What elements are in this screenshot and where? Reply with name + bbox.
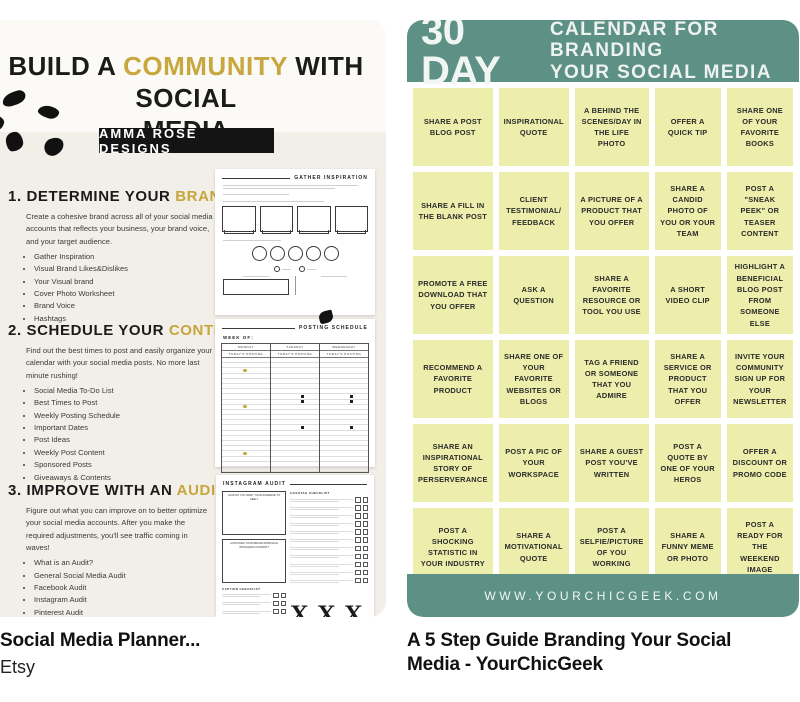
planner-bullet-item: Visual Brand Likes&Dislikes (34, 263, 213, 275)
audit-checklist-item[interactable] (290, 554, 368, 560)
audit-item-text (222, 610, 271, 614)
calendar-day-text: POST A SELFIE/PICTURE OF YOU WORKING (580, 525, 644, 570)
calendar-day-text: TAG A FRIEND OR SOMEONE THAT YOU ADMIRE (580, 357, 644, 402)
audit-checklist-item[interactable] (290, 521, 368, 527)
checkbox-no-icon[interactable] (363, 570, 369, 576)
audit-right-column: HASHTAG CHECKLIST (290, 491, 368, 617)
calendar-day-text: SHARE A FUNNY MEME OR PHOTO (660, 530, 716, 564)
audit-answer-area[interactable] (225, 502, 283, 532)
divider (222, 178, 290, 179)
checkbox-no-icon[interactable] (363, 554, 369, 560)
calendar-day-cell[interactable]: HIGHLIGHT A BENEFICIAL BLOG POST FROM SO… (727, 256, 793, 334)
photo-frame-icon (297, 206, 331, 232)
checkbox-no-icon[interactable] (363, 529, 369, 535)
planner-bullet-item: Brand Voice (34, 300, 213, 312)
calendar-day-cell[interactable]: SHARE ONE OF YOUR FAVORITE WEBSITES OR B… (499, 340, 569, 418)
planner-section-3-body: Figure out what you can improve on to be… (26, 505, 213, 554)
calendar-day-text: POST A READY FOR THE WEEKEND IMAGE (732, 519, 788, 575)
schedule-dark-marker (350, 400, 353, 403)
worksheet-posting-schedule: POSTING SCHEDULE WEEK OF: MONDAYTODAY'S … (215, 319, 375, 467)
audit-checklist-item[interactable] (290, 497, 368, 503)
planner-section-3-number: 3. (8, 482, 22, 499)
calendar-header: 30 DAY CALENDAR FOR BRANDING YOUR SOCIAL… (407, 20, 799, 82)
pin-image-planner[interactable]: BUILD A COMMUNITY WITH SOCIAL MEDIA AMMA… (0, 20, 386, 617)
audit-checklist-item[interactable] (290, 529, 368, 535)
audit-item-text (290, 563, 353, 567)
audit-checklist-item[interactable] (290, 505, 368, 511)
calendar-day-text: SHARE A FAVORITE RESOURCE OR TOOL YOU US… (580, 273, 644, 318)
audit-item-text (290, 522, 353, 526)
calendar-day-cell[interactable]: SHARE A FILL IN THE BLANK POST (413, 172, 493, 250)
calendar-day-text: SHARE ONE OF YOUR FAVORITE WEBSITES OR B… (504, 351, 564, 407)
audit-checklist-item[interactable] (222, 609, 286, 615)
schedule-day-header: WEDNESDAY (320, 344, 368, 351)
audit-left-column: HOW DO YOU WANT YOUR AUDIENCE TO FEEL? H… (222, 491, 286, 617)
audit-caption-checklist-label: CAPTION CHECKLIST (222, 587, 286, 591)
audit-checklist-item[interactable] (290, 578, 368, 584)
calendar-day-text: SHARE A POST BLOG POST (418, 116, 488, 139)
checkbox-no-icon[interactable] (363, 505, 369, 511)
calendar-day-text: POST A SHOCKING STATISTIC IN YOUR INDUST… (418, 525, 488, 570)
audit-checklist-item[interactable] (222, 601, 286, 607)
schedule-day-column: WEDNESDAYTODAY'S POSTING (320, 344, 368, 472)
planner-bullet-item: Cover Photo Worksheet (34, 288, 213, 300)
checkbox-yes-icon[interactable] (355, 562, 361, 568)
calendar-day-cell[interactable]: A SHORT VIDEO CLIP (655, 256, 721, 334)
checkbox-no-icon[interactable] (363, 537, 369, 543)
calendar-day-cell[interactable]: SHARE AN INSPIRATIONAL STORY OF PERSERVE… (413, 424, 493, 502)
calendar-footer-url[interactable]: WWW.YOURCHICGEEK.COM (484, 589, 721, 603)
worksheet-header: INSTAGRAM AUDIT (223, 481, 367, 487)
audit-hashtag-checklist-label: HASHTAG CHECKLIST (290, 491, 368, 495)
x-mark-icon: X (290, 600, 309, 617)
calendar-day-cell[interactable]: SHARE A CANDID PHOTO OF YOU OR YOUR TEAM (655, 172, 721, 250)
calendar-day-cell[interactable]: POST A QUOTE BY ONE OF YOUR HEROS (655, 424, 721, 502)
checkbox-no-icon[interactable] (363, 562, 369, 568)
planner-section-2-body: Find out the best times to post and easi… (26, 345, 213, 382)
planner-section-2: 2. SCHEDULE YOUR CONTENT Find out the be… (8, 322, 213, 484)
pin-source[interactable]: Etsy (0, 656, 386, 679)
planner-bullet-item: Sponsored Posts (34, 459, 213, 471)
audit-item-text (290, 554, 353, 558)
audit-item-text (290, 530, 353, 534)
x-mark-icon: X (344, 600, 363, 617)
planner-brand-badge: AMMA ROSE DESIGNS (99, 128, 274, 153)
checkbox-no-icon[interactable] (363, 578, 369, 584)
worksheet-title: GATHER INSPIRATION (294, 175, 368, 181)
calendar-day-text: CLIENT TESTIMONIAL/ FEEDBACK (504, 194, 564, 228)
planner-section-2-heading-text: SCHEDULE YOUR (27, 322, 169, 339)
calendar-day-text: SHARE A GUEST POST YOU'VE WRITTEN (580, 446, 644, 480)
brand-color-circles (215, 246, 375, 261)
planner-bullet-item: Important Dates (34, 422, 213, 434)
divider (222, 328, 295, 329)
checkbox-no-icon[interactable] (363, 513, 369, 519)
calendar-day-text: SHARE A FILL IN THE BLANK POST (418, 200, 488, 223)
calendar-day-text: SHARE A SERVICE OR PRODUCT THAT YOU OFFE… (660, 351, 716, 407)
divider (290, 484, 367, 485)
audit-question-1: HOW DO YOU WANT YOUR AUDIENCE TO FEEL? (222, 491, 286, 535)
planner-title-part1: BUILD A (8, 51, 123, 81)
planner-section-3: 3. IMPROVE WITH AN AUDIT Figure out what… (8, 482, 213, 617)
schedule-time-row[interactable] (320, 467, 368, 472)
checkbox-no-icon[interactable] (363, 546, 369, 552)
pin-caption-planner: Social Media Planner... Etsy (0, 629, 386, 679)
checkbox-yes-icon[interactable] (355, 570, 361, 576)
planner-section-2-number: 2. (8, 322, 22, 339)
schedule-grid: MONDAYTODAY'S POSTINGTUESDAYTODAY'S POST… (221, 343, 369, 473)
checkbox-yes-icon[interactable] (355, 554, 361, 560)
audit-checklist-item[interactable] (290, 562, 368, 568)
calendar-grid: SHARE A POST BLOG POSTINSPIRATIONAL QUOT… (407, 82, 799, 592)
planner-bullet-item: Facebook Audit (34, 582, 213, 594)
calendar-day-text: SHARE AN INSPIRATIONAL STORY OF PERSERVE… (418, 441, 488, 486)
schedule-gold-marker (243, 369, 246, 372)
calendar-day-cell[interactable]: POST A "SNEAK PEEK" OR TEASER CONTENT (727, 172, 793, 250)
pin-image-calendar[interactable]: 30 DAY CALENDAR FOR BRANDING YOUR SOCIAL… (407, 20, 799, 617)
calendar-graphic: 30 DAY CALENDAR FOR BRANDING YOUR SOCIAL… (407, 20, 799, 617)
schedule-dark-marker (350, 395, 353, 398)
planner-section-3-bullets: What is an Audit?General Social Media Au… (34, 557, 213, 617)
schedule-gold-marker (243, 452, 246, 455)
audit-item-text (290, 546, 353, 550)
checkbox-no-icon[interactable] (281, 601, 287, 607)
checkbox-yes-icon[interactable] (355, 497, 361, 503)
audit-checklist-item[interactable] (290, 546, 368, 552)
schedule-day-column: MONDAYTODAY'S POSTING (222, 344, 271, 472)
planner-section-1-body: Create a cohesive brand across all of yo… (26, 211, 213, 248)
checkbox-yes-icon[interactable] (273, 609, 279, 615)
audit-checklist-item[interactable] (222, 593, 286, 599)
calendar-day-text: ASK A QUESTION (504, 284, 564, 307)
worksheet-header: GATHER INSPIRATION (222, 175, 368, 181)
schedule-time-row[interactable] (222, 467, 270, 472)
schedule-dark-marker (301, 400, 304, 403)
calendar-subtitle-line1: CALENDAR FOR BRANDING (550, 20, 799, 62)
calendar-day-text: OFFER A DISCOUNT OR PROMO CODE (732, 446, 788, 480)
schedule-day-column: TUESDAYTODAY'S POSTING (271, 344, 320, 472)
checkbox-yes-icon[interactable] (355, 505, 361, 511)
photo-frame-icon (260, 206, 294, 232)
calendar-day-cell[interactable]: OFFER A QUICK TIP (655, 88, 721, 166)
calendar-day-cell[interactable]: ASK A QUESTION (499, 256, 569, 334)
planner-section-1: 1. DETERMINE YOUR BRAND Create a cohesiv… (8, 188, 213, 325)
calendar-day-text: SHARE A CANDID PHOTO OF YOU OR YOUR TEAM (660, 183, 716, 239)
checkbox-yes-icon[interactable] (355, 578, 361, 584)
planner-bullet-item: Weekly Posting Schedule (34, 410, 213, 422)
calendar-day-cell[interactable]: RECOMMEND A FAVORITE PRODUCT (413, 340, 493, 418)
audit-item-text (290, 506, 353, 510)
planner-bullet-item: Instagram Audit (34, 594, 213, 606)
schedule-time-row[interactable] (271, 467, 319, 472)
worksheet-header: POSTING SCHEDULE (222, 325, 368, 331)
calendar-footer: WWW.YOURCHICGEEK.COM (407, 574, 799, 617)
audit-item-text (290, 538, 353, 542)
schedule-column-sublabel: TODAY'S POSTING (222, 351, 270, 358)
schedule-gold-marker (243, 405, 246, 408)
audit-item-text (290, 498, 353, 502)
circle-icon (252, 246, 267, 261)
planner-section-1-heading: 1. DETERMINE YOUR BRAND (8, 188, 213, 205)
planner-bullet-item: Gather Inspiration (34, 251, 213, 263)
calendar-day-cell[interactable]: TAG A FRIEND OR SOMEONE THAT YOU ADMIRE (575, 340, 649, 418)
worksheet-gather-inspiration: GATHER INSPIRATION (215, 169, 375, 315)
calendar-day-cell[interactable]: INVITE YOUR COMMUNITY SIGN UP FOR YOUR N… (727, 340, 793, 418)
calendar-day-cell[interactable]: OFFER A DISCOUNT OR PROMO CODE (727, 424, 793, 502)
checkbox-no-icon[interactable] (363, 497, 369, 503)
calendar-day-cell[interactable]: A BEHIND THE SCENES/DAY IN THE LIFE PHOT… (575, 88, 649, 166)
checkbox-yes-icon[interactable] (355, 513, 361, 519)
calendar-day-text: HIGHLIGHT A BENEFICIAL BLOG POST FROM SO… (732, 261, 788, 329)
calendar-day-cell[interactable]: SHARE A GUEST POST YOU'VE WRITTEN (575, 424, 649, 502)
planner-bullet-item: General Social Media Audit (34, 570, 213, 582)
calendar-day-text: A SHORT VIDEO CLIP (660, 284, 716, 307)
pin-caption-guide: A 5 Step Guide Branding Your Social Medi… (407, 629, 799, 676)
calendar-day-text: SHARE ONE OF YOUR FAVORITE BOOKS (732, 105, 788, 150)
calendar-day-cell[interactable]: A PICTURE OF A PRODUCT THAT YOU OFFER (575, 172, 649, 250)
checkbox-yes-icon[interactable] (355, 537, 361, 543)
calendar-day-text: PROMOTE A FREE DOWNLOAD THAT YOU OFFER (418, 278, 488, 312)
circle-icon (306, 246, 321, 261)
calendar-day-cell[interactable]: PROMOTE A FREE DOWNLOAD THAT YOU OFFER (413, 256, 493, 334)
calendar-day-cell[interactable]: SHARE A SERVICE OR PRODUCT THAT YOU OFFE… (655, 340, 721, 418)
audit-item-text (290, 571, 353, 575)
audit-item-text (222, 601, 271, 605)
calendar-day-cell[interactable]: SHARE ONE OF YOUR FAVORITE BOOKS (727, 88, 793, 166)
checkbox-yes-icon[interactable] (273, 593, 279, 599)
calendar-day-text: OFFER A QUICK TIP (660, 116, 716, 139)
calendar-day-text: POST A PIC OF YOUR WORKSPACE (504, 446, 564, 480)
checkbox-yes-icon[interactable] (273, 601, 279, 607)
calendar-day-text: INSPIRATIONAL QUOTE (504, 116, 564, 139)
worksheet-instagram-audit: INSTAGRAM AUDIT HOW DO YOU WANT YOUR AUD… (216, 475, 374, 617)
planner-section-1-number: 1. (8, 188, 22, 205)
calendar-day-text: POST A QUOTE BY ONE OF YOUR HEROS (660, 441, 716, 486)
schedule-dark-marker (301, 426, 304, 429)
audit-item-text (290, 579, 353, 583)
circle-icon (270, 246, 285, 261)
planner-bullet-item: What is an Audit? (34, 557, 213, 569)
audit-checklist-item[interactable] (290, 537, 368, 543)
photo-frame-icon (222, 206, 256, 232)
worksheet-title: INSTAGRAM AUDIT (223, 481, 286, 487)
circle-icon (288, 246, 303, 261)
worksheet-title: POSTING SCHEDULE (299, 325, 368, 331)
audit-question-2: HOW DOES YOUR BRAND APPROACH INSTAGRAM C… (222, 539, 286, 583)
calendar-header-subtitle: CALENDAR FOR BRANDING YOUR SOCIAL MEDIA (550, 20, 799, 83)
calendar-day-cell[interactable]: SHARE A FAVORITE RESOURCE OR TOOL YOU US… (575, 256, 649, 334)
schedule-column-sublabel: TODAY'S POSTING (320, 351, 368, 358)
planner-section-3-heading-text: IMPROVE WITH AN (27, 482, 177, 499)
planner-section-3-heading: 3. IMPROVE WITH AN AUDIT (8, 482, 213, 499)
calendar-day-cell[interactable]: POST A PIC OF YOUR WORKSPACE (499, 424, 569, 502)
planner-section-1-bullets: Gather InspirationVisual Brand Likes&Dis… (34, 251, 213, 325)
calendar-day-text: A PICTURE OF A PRODUCT THAT YOU OFFER (580, 194, 644, 228)
audit-checklist-item[interactable] (290, 513, 368, 519)
planner-bullet-item: Social Media To-Do List (34, 385, 213, 397)
schedule-dark-marker (350, 426, 353, 429)
audit-checklist-item[interactable] (290, 570, 368, 576)
planner-section-1-heading-text: DETERMINE YOUR (27, 188, 176, 205)
calendar-day-text: SHARE A MOTIVATIONAL QUOTE (504, 530, 564, 564)
pin-card-five-step-guide[interactable]: 30 DAY CALENDAR FOR BRANDING YOUR SOCIAL… (407, 20, 799, 676)
calendar-day-cell[interactable]: CLIENT TESTIMONIAL/ FEEDBACK (499, 172, 569, 250)
planner-bullet-item: Pinterest Audit (34, 607, 213, 617)
planner-bullet-item: Post Ideas (34, 434, 213, 446)
pin-title[interactable]: A 5 Step Guide Branding Your Social Medi… (407, 629, 777, 676)
planner-section-2-bullets: Social Media To-Do ListBest Times to Pos… (34, 385, 213, 484)
checkbox-yes-icon[interactable] (355, 546, 361, 552)
calendar-subtitle-line2: YOUR SOCIAL MEDIA (550, 62, 799, 83)
checkbox-no-icon[interactable] (363, 521, 369, 527)
audit-answer-area[interactable] (225, 550, 283, 580)
schedule-day-header: MONDAY (222, 344, 270, 351)
calendar-day-cell[interactable]: SHARE A POST BLOG POST (413, 88, 493, 166)
pin-card-social-media-planner[interactable]: BUILD A COMMUNITY WITH SOCIAL MEDIA AMMA… (0, 20, 386, 679)
planner-title-accent: COMMUNITY (123, 51, 287, 81)
schedule-column-sublabel: TODAY'S POSTING (271, 351, 319, 358)
inspiration-frames (222, 206, 368, 232)
calendar-day-text: POST A "SNEAK PEEK" OR TEASER CONTENT (732, 183, 788, 239)
calendar-header-30-day: 30 DAY (421, 20, 536, 91)
calendar-day-text: INVITE YOUR COMMUNITY SIGN UP FOR YOUR N… (732, 351, 788, 407)
audit-item-text (290, 514, 353, 518)
audit-item-text (222, 593, 271, 597)
schedule-dark-marker (301, 395, 304, 398)
planner-bullet-item: Your Visual brand (34, 276, 213, 288)
x-mark-icon: X (317, 600, 336, 617)
calendar-day-text: A BEHIND THE SCENES/DAY IN THE LIFE PHOT… (580, 105, 644, 150)
planner-bullet-item: Best Times to Post (34, 397, 213, 409)
calendar-day-text: RECOMMEND A FAVORITE PRODUCT (418, 362, 488, 396)
checkbox-yes-icon[interactable] (355, 529, 361, 535)
worksheet-week-of-label: WEEK OF: (223, 335, 367, 340)
planner-bullet-item: Weekly Post Content (34, 447, 213, 459)
pin-board: BUILD A COMMUNITY WITH SOCIAL MEDIA AMMA… (0, 0, 800, 702)
pin-title[interactable]: Social Media Planner... (0, 629, 386, 653)
checkbox-no-icon[interactable] (281, 609, 287, 615)
photo-frame-icon (335, 206, 369, 232)
calendar-day-cell[interactable]: INSPIRATIONAL QUOTE (499, 88, 569, 166)
checkbox-yes-icon[interactable] (355, 521, 361, 527)
checkbox-no-icon[interactable] (281, 593, 287, 599)
planner-section-2-heading: 2. SCHEDULE YOUR CONTENT (8, 322, 213, 339)
circle-icon (324, 246, 339, 261)
schedule-day-header: TUESDAY (271, 344, 319, 351)
